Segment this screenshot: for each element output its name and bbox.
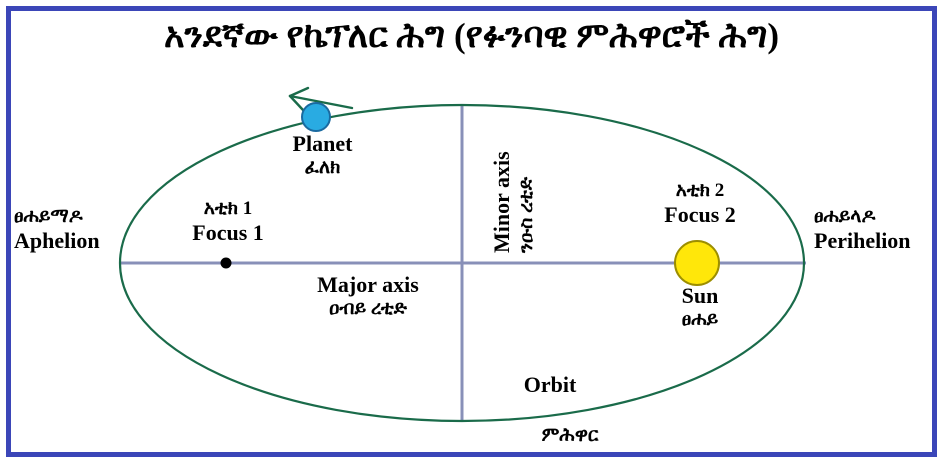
orbit-label-am-text: ምሕዋር [460, 425, 680, 447]
focus2-label: አቲክ 2 Focus 2 [635, 180, 765, 228]
orbit-label-am: ምሕዋር [460, 425, 680, 447]
sun-label-en: Sun [636, 283, 764, 309]
perihelion-label-am: ፀሐይላዶ [814, 206, 911, 228]
aphelion-label-en: Aphelion [14, 228, 100, 254]
major-axis-label-am: ዐብይ ረቲድ [258, 298, 478, 320]
sun-label: Sun ፀሐይ [636, 283, 764, 331]
minor-axis-label-am: ንዑስ ረቲድ [516, 177, 538, 253]
sun-label-am: ፀሐይ [636, 309, 764, 331]
diagram-page: አንደኛው የኬፕለር ሕግ (የፉንባዊ ምሕዋሮች ሕግ) ፀሐይማዶ Ap… [0, 0, 943, 463]
focus1-marker [221, 258, 232, 269]
planet-label: Planet ፈለክ [250, 131, 395, 179]
focus1-label: አቲክ 1 Focus 1 [166, 198, 290, 246]
aphelion-label-am: ፀሐይማዶ [14, 206, 100, 228]
planet-label-en: Planet [250, 131, 395, 157]
perihelion-label: ፀሐይላዶ Perihelion [814, 206, 911, 254]
focus2-label-am: አቲክ 2 [635, 180, 765, 202]
major-axis-label-en: Major axis [258, 272, 478, 298]
perihelion-label-en: Perihelion [814, 228, 911, 254]
focus1-label-en: Focus 1 [166, 220, 290, 246]
planet-label-am: ፈለክ [250, 157, 395, 179]
minor-axis-label-en: Minor axis [489, 151, 515, 253]
orbit-label-en: Orbit [440, 372, 660, 398]
sun-marker [675, 241, 719, 285]
orbit-label-en-text: Orbit [440, 372, 660, 398]
aphelion-label: ፀሐይማዶ Aphelion [14, 206, 100, 254]
focus1-label-am: አቲክ 1 [166, 198, 290, 220]
planet-marker [302, 103, 330, 131]
major-axis-label: Major axis ዐብይ ረቲድ [258, 272, 478, 320]
focus2-label-en: Focus 2 [635, 202, 765, 228]
